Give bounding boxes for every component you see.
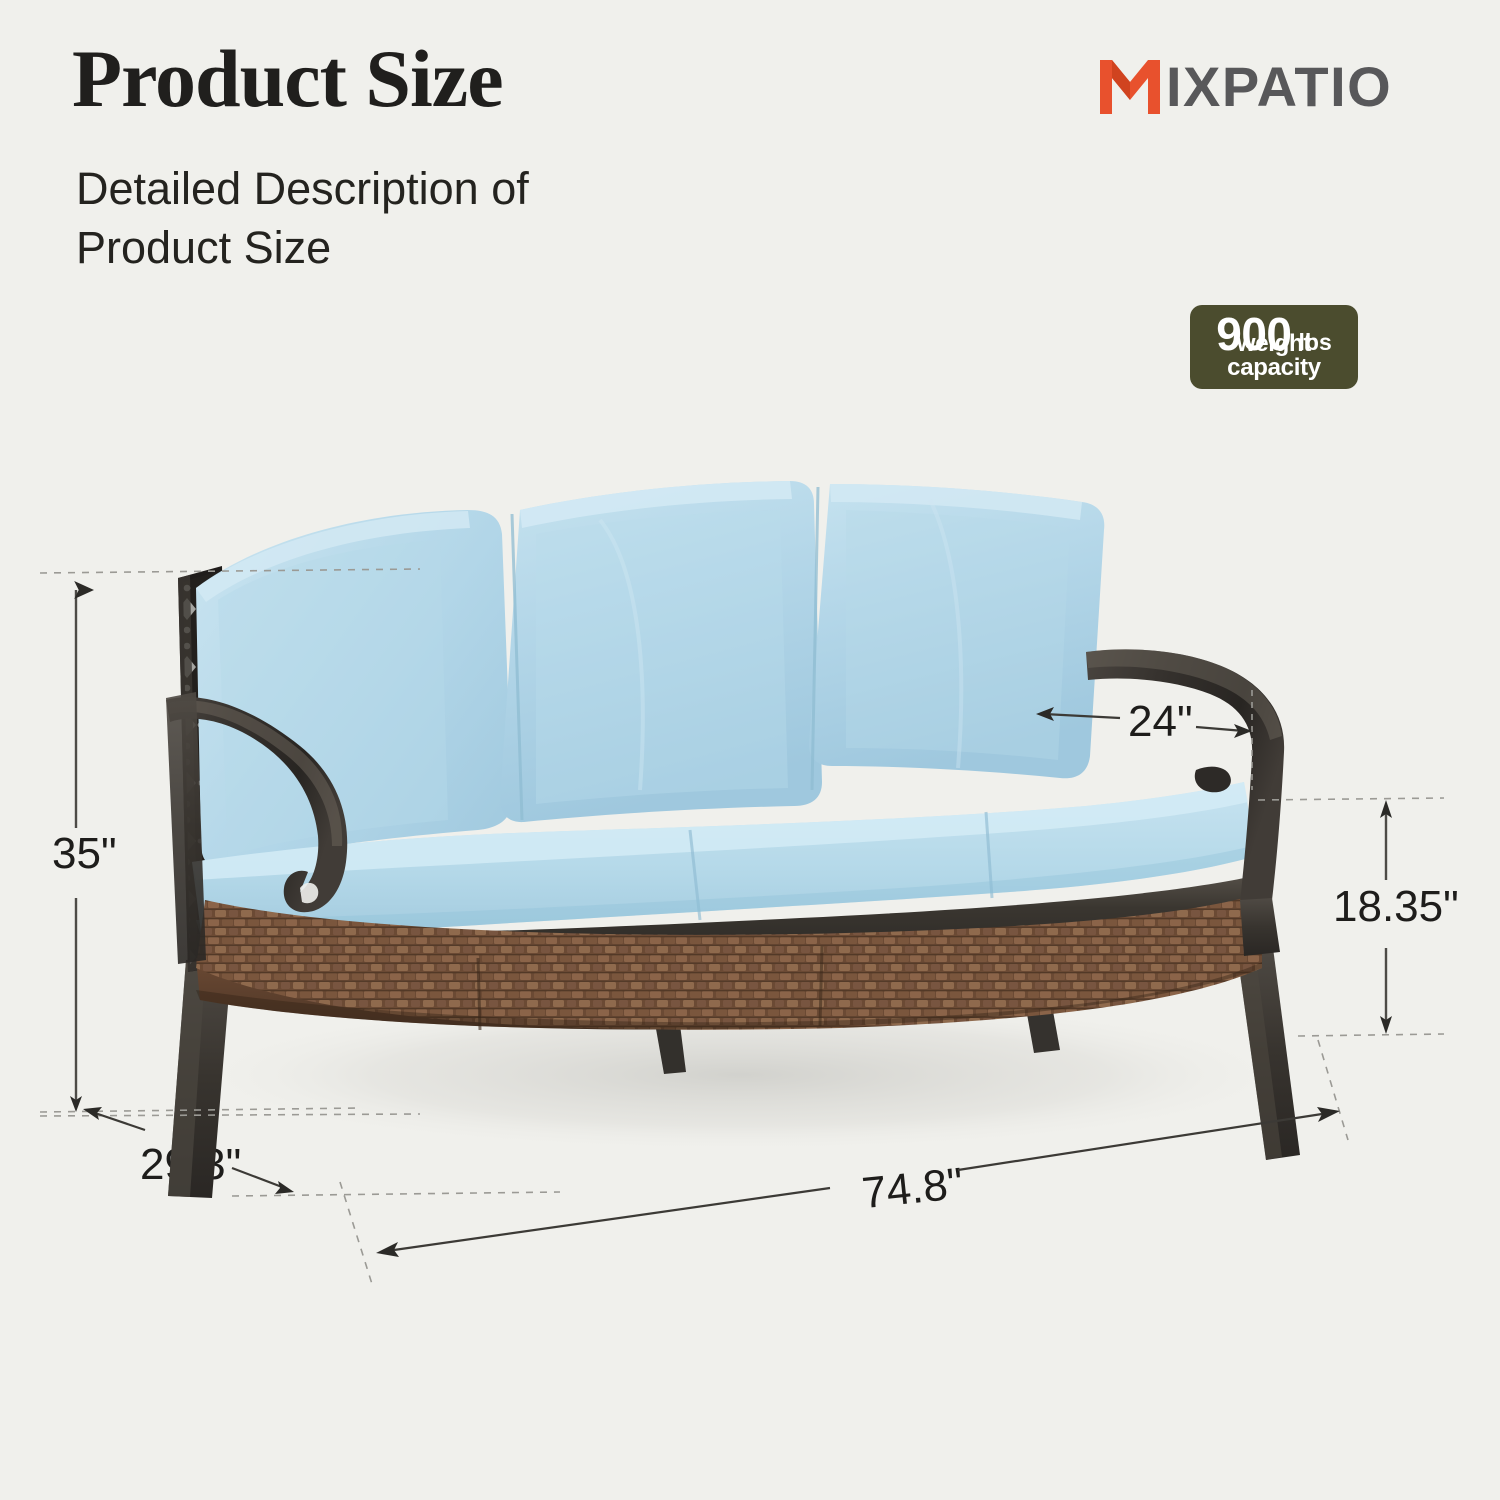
dimension-width-748 bbox=[340, 1040, 1348, 1284]
product-size-infographic: Product Size Detailed Description of Pro… bbox=[0, 0, 1500, 1500]
right-armrest bbox=[1086, 649, 1284, 956]
left-armrest bbox=[166, 692, 347, 964]
page-title: Product Size bbox=[72, 38, 503, 120]
decorative-back-panel bbox=[175, 565, 230, 975]
brand-logo: IXPATIO bbox=[1098, 58, 1392, 116]
dimension-label-height: 35" bbox=[52, 832, 117, 876]
dimension-label-depth: 29.3" bbox=[140, 1143, 241, 1187]
brand-wordmark: IXPATIO bbox=[1166, 59, 1392, 115]
seat-cushions bbox=[192, 782, 1256, 940]
sofa-legs bbox=[168, 940, 1300, 1198]
weight-capacity-badge: 900 lbs weight capacity bbox=[1190, 305, 1358, 389]
floor-shadow bbox=[180, 997, 1300, 1153]
dimension-label-seat-height: 18.35" bbox=[1333, 885, 1459, 929]
dimension-label-width: 74.8" bbox=[860, 1162, 965, 1216]
back-cushions bbox=[196, 481, 1104, 867]
mixpatio-m-mark-icon bbox=[1098, 58, 1162, 116]
dimension-depth-293 bbox=[40, 1107, 560, 1196]
seat-rail bbox=[196, 874, 1262, 959]
dimension-label-seat-depth: 24" bbox=[1128, 700, 1193, 744]
page-subtitle: Detailed Description of Product Size bbox=[76, 160, 696, 277]
wicker-base bbox=[180, 880, 1280, 1050]
badge-caption: weight capacity bbox=[1190, 332, 1358, 380]
